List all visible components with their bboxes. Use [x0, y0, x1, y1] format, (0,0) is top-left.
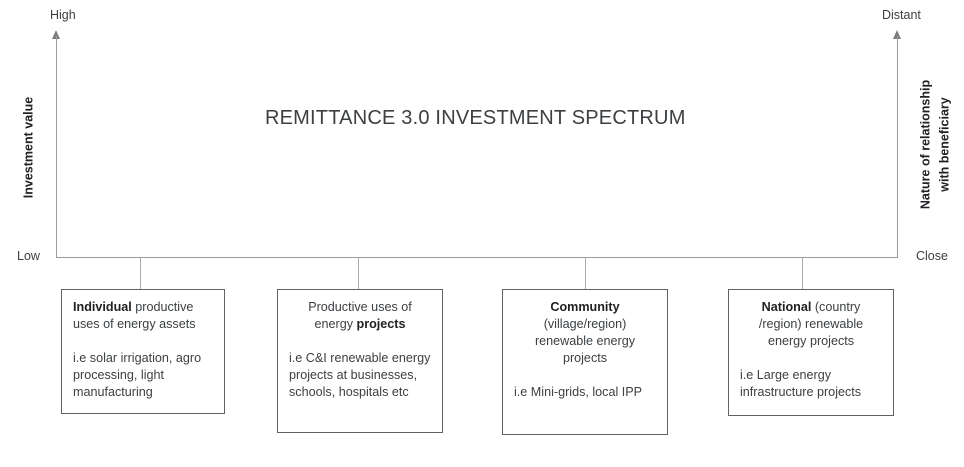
right-axis-close-label: Close [916, 250, 948, 263]
category-heading-strong: National [762, 300, 812, 314]
category-box-national[interactable]: National (country /region) renewable ene… [728, 289, 894, 416]
category-box-individual[interactable]: Individual productive uses of energy ass… [61, 289, 225, 414]
category-body-individual: i.e solar irrigation, agro processing, l… [73, 350, 213, 401]
left-axis-low-label: Low [17, 250, 40, 263]
category-heading-national: National (country /region) renewable ene… [740, 299, 882, 350]
category-box-productive-projects[interactable]: Productive uses of energy projects i.e C… [277, 289, 443, 433]
right-axis-line [897, 36, 898, 258]
category-heading-strong: projects [357, 317, 406, 331]
category-heading-rest: (village/region) renewable energy projec… [535, 317, 635, 365]
diagram-canvas: High Low Investment value Distant Close … [0, 0, 964, 467]
category-box-community[interactable]: Community (village/region) renewable ene… [502, 289, 668, 435]
right-axis-title-line2: with beneficiary [938, 75, 953, 215]
left-axis-line [56, 36, 57, 258]
right-axis-distant-label: Distant [882, 9, 921, 22]
connector-line-community [585, 257, 586, 289]
category-heading-community: Community (village/region) renewable ene… [514, 299, 656, 367]
category-body-national: i.e Large energy infrastructure projects [740, 367, 882, 401]
category-heading-productive-projects: Productive uses of energy projects [289, 299, 431, 333]
category-heading-individual: Individual productive uses of energy ass… [73, 299, 213, 333]
left-axis-title: Investment value [22, 93, 37, 203]
category-body-productive-projects: i.e C&I renewable energy projects at bus… [289, 350, 431, 401]
category-heading-strong: Community [550, 300, 619, 314]
right-axis-title-line1: Nature of relationship [919, 75, 934, 215]
baseline-axis-line [56, 257, 897, 258]
connector-line-individual [140, 257, 141, 289]
category-heading-strong: Individual [73, 300, 132, 314]
category-body-community: i.e Mini-grids, local IPP [514, 384, 656, 401]
page-title: REMITTANCE 3.0 INVESTMENT SPECTRUM [265, 108, 686, 128]
left-axis-high-label: High [50, 9, 76, 22]
connector-line-productive-projects [358, 257, 359, 289]
connector-line-national [802, 257, 803, 289]
